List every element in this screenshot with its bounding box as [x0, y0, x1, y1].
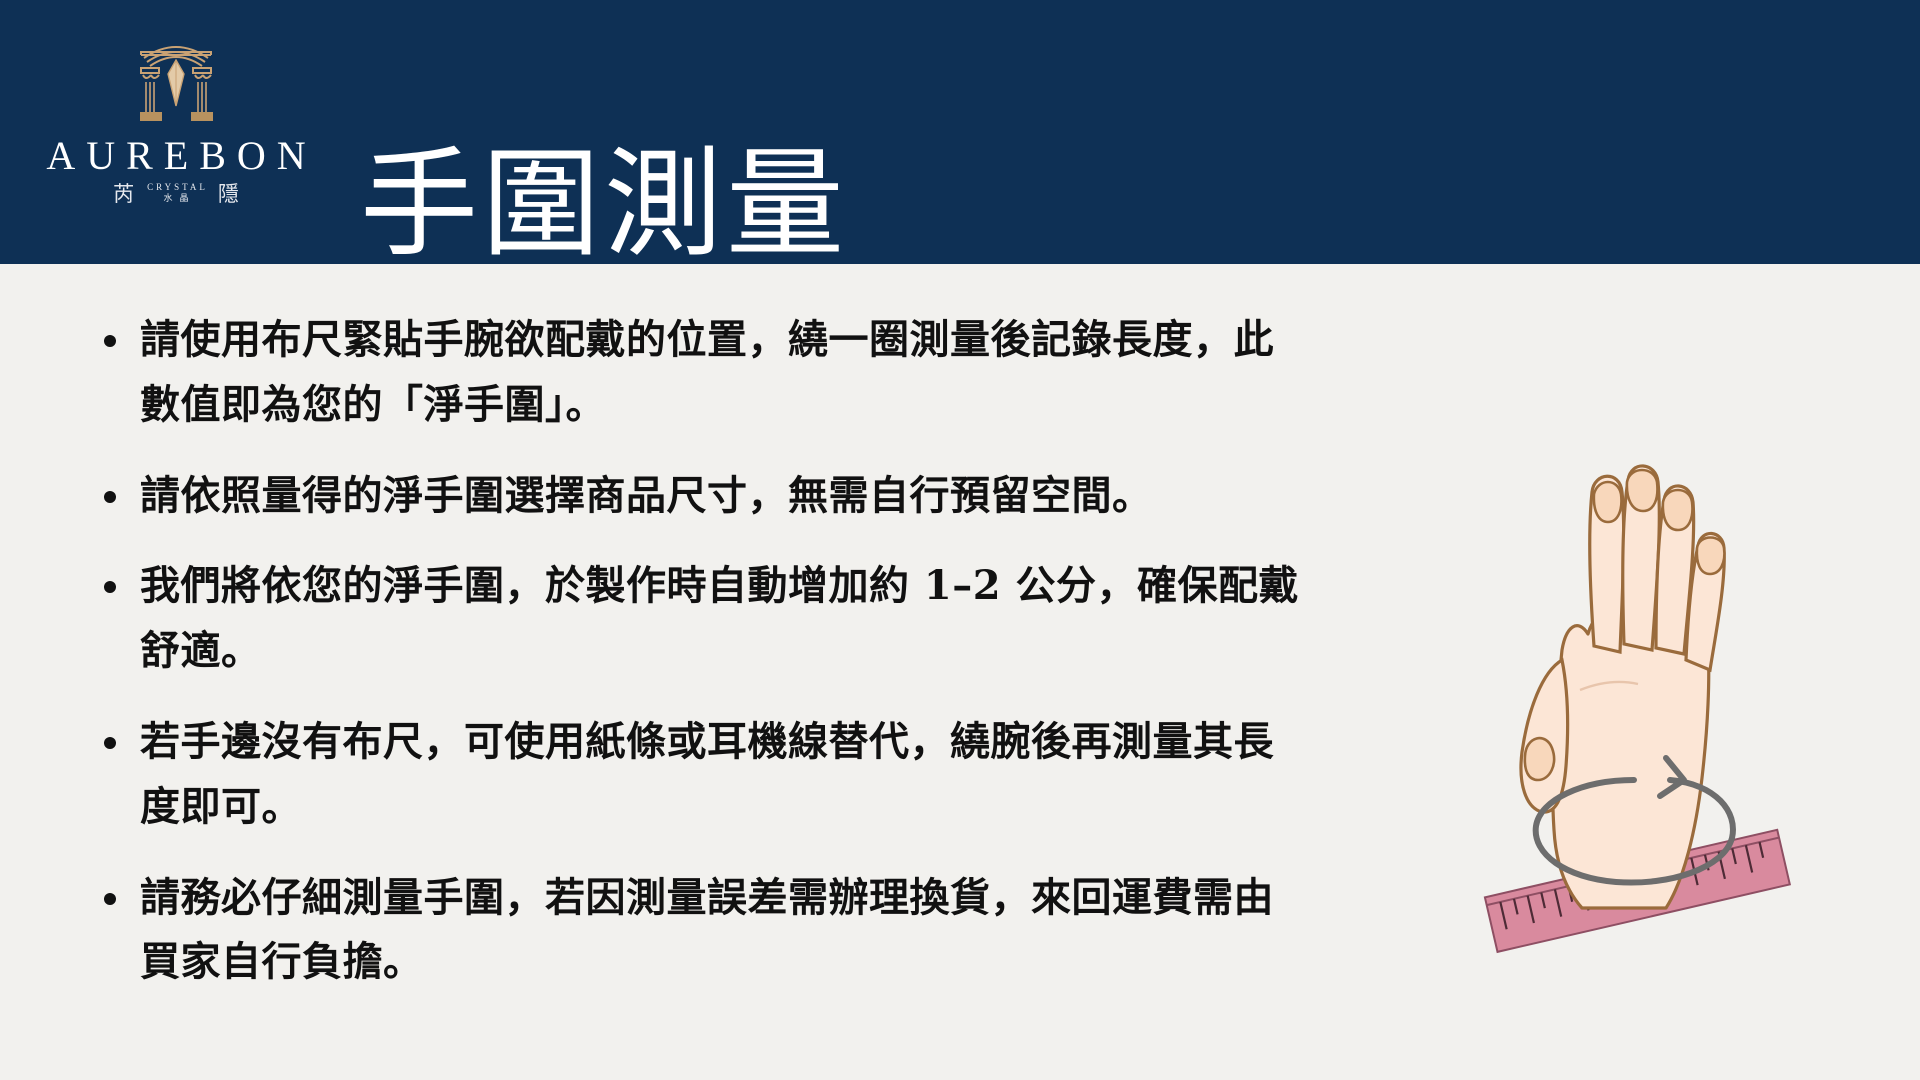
brand-wordmark: AUREBON [35, 136, 316, 176]
slide-root: AUREBON 芮 CRYSTAL 水晶 隱 手圍測量 請使用布尺緊貼手腕欲配戴… [0, 0, 1920, 1080]
instruction-list: 請使用布尺緊貼手腕欲配戴的位置，繞一圈測量後記錄長度，此數值即為您的「淨手圍」。… [96, 308, 1306, 995]
list-item: 請使用布尺緊貼手腕欲配戴的位置，繞一圈測量後記錄長度，此數值即為您的「淨手圍」。 [96, 308, 1306, 438]
brand-sub-en: CRYSTAL [144, 183, 208, 192]
list-item: 我們將依您的淨手圍，於製作時自動增加約 1–2 公分，確保配戴舒適。 [96, 554, 1306, 684]
hand-illustration [1521, 466, 1724, 908]
brand-sub-cn: 水晶 [156, 194, 195, 203]
brand-subtitle: 芮 CRYSTAL 水晶 隱 [113, 183, 239, 205]
hand-measuring-illustration [1470, 360, 1850, 1020]
brand-sub-han-right: 隱 [218, 184, 239, 205]
brand-sub-han-left: 芮 [113, 184, 134, 205]
list-item: 若手邊沒有布尺，可使用紙條或耳機線替代，繞腕後再測量其長度即可。 [96, 710, 1306, 840]
list-item: 請務必仔細測量手圍，若因測量誤差需辦理換貨，來回運費需由買家自行負擔。 [96, 866, 1306, 996]
page-title: 手圍測量 [360, 131, 848, 279]
list-item: 請依照量得的淨手圍選擇商品尺寸，無需自行預留空間。 [96, 464, 1306, 529]
instructions-section: 請使用布尺緊貼手腕欲配戴的位置，繞一圈測量後記錄長度，此數值即為您的「淨手圍」。… [96, 308, 1306, 995]
brand-logo: AUREBON 芮 CRYSTAL 水晶 隱 [40, 28, 312, 240]
header-banner: AUREBON 芮 CRYSTAL 水晶 隱 手圍測量 [0, 0, 1920, 264]
arch-column-crystal-icon [124, 28, 228, 132]
